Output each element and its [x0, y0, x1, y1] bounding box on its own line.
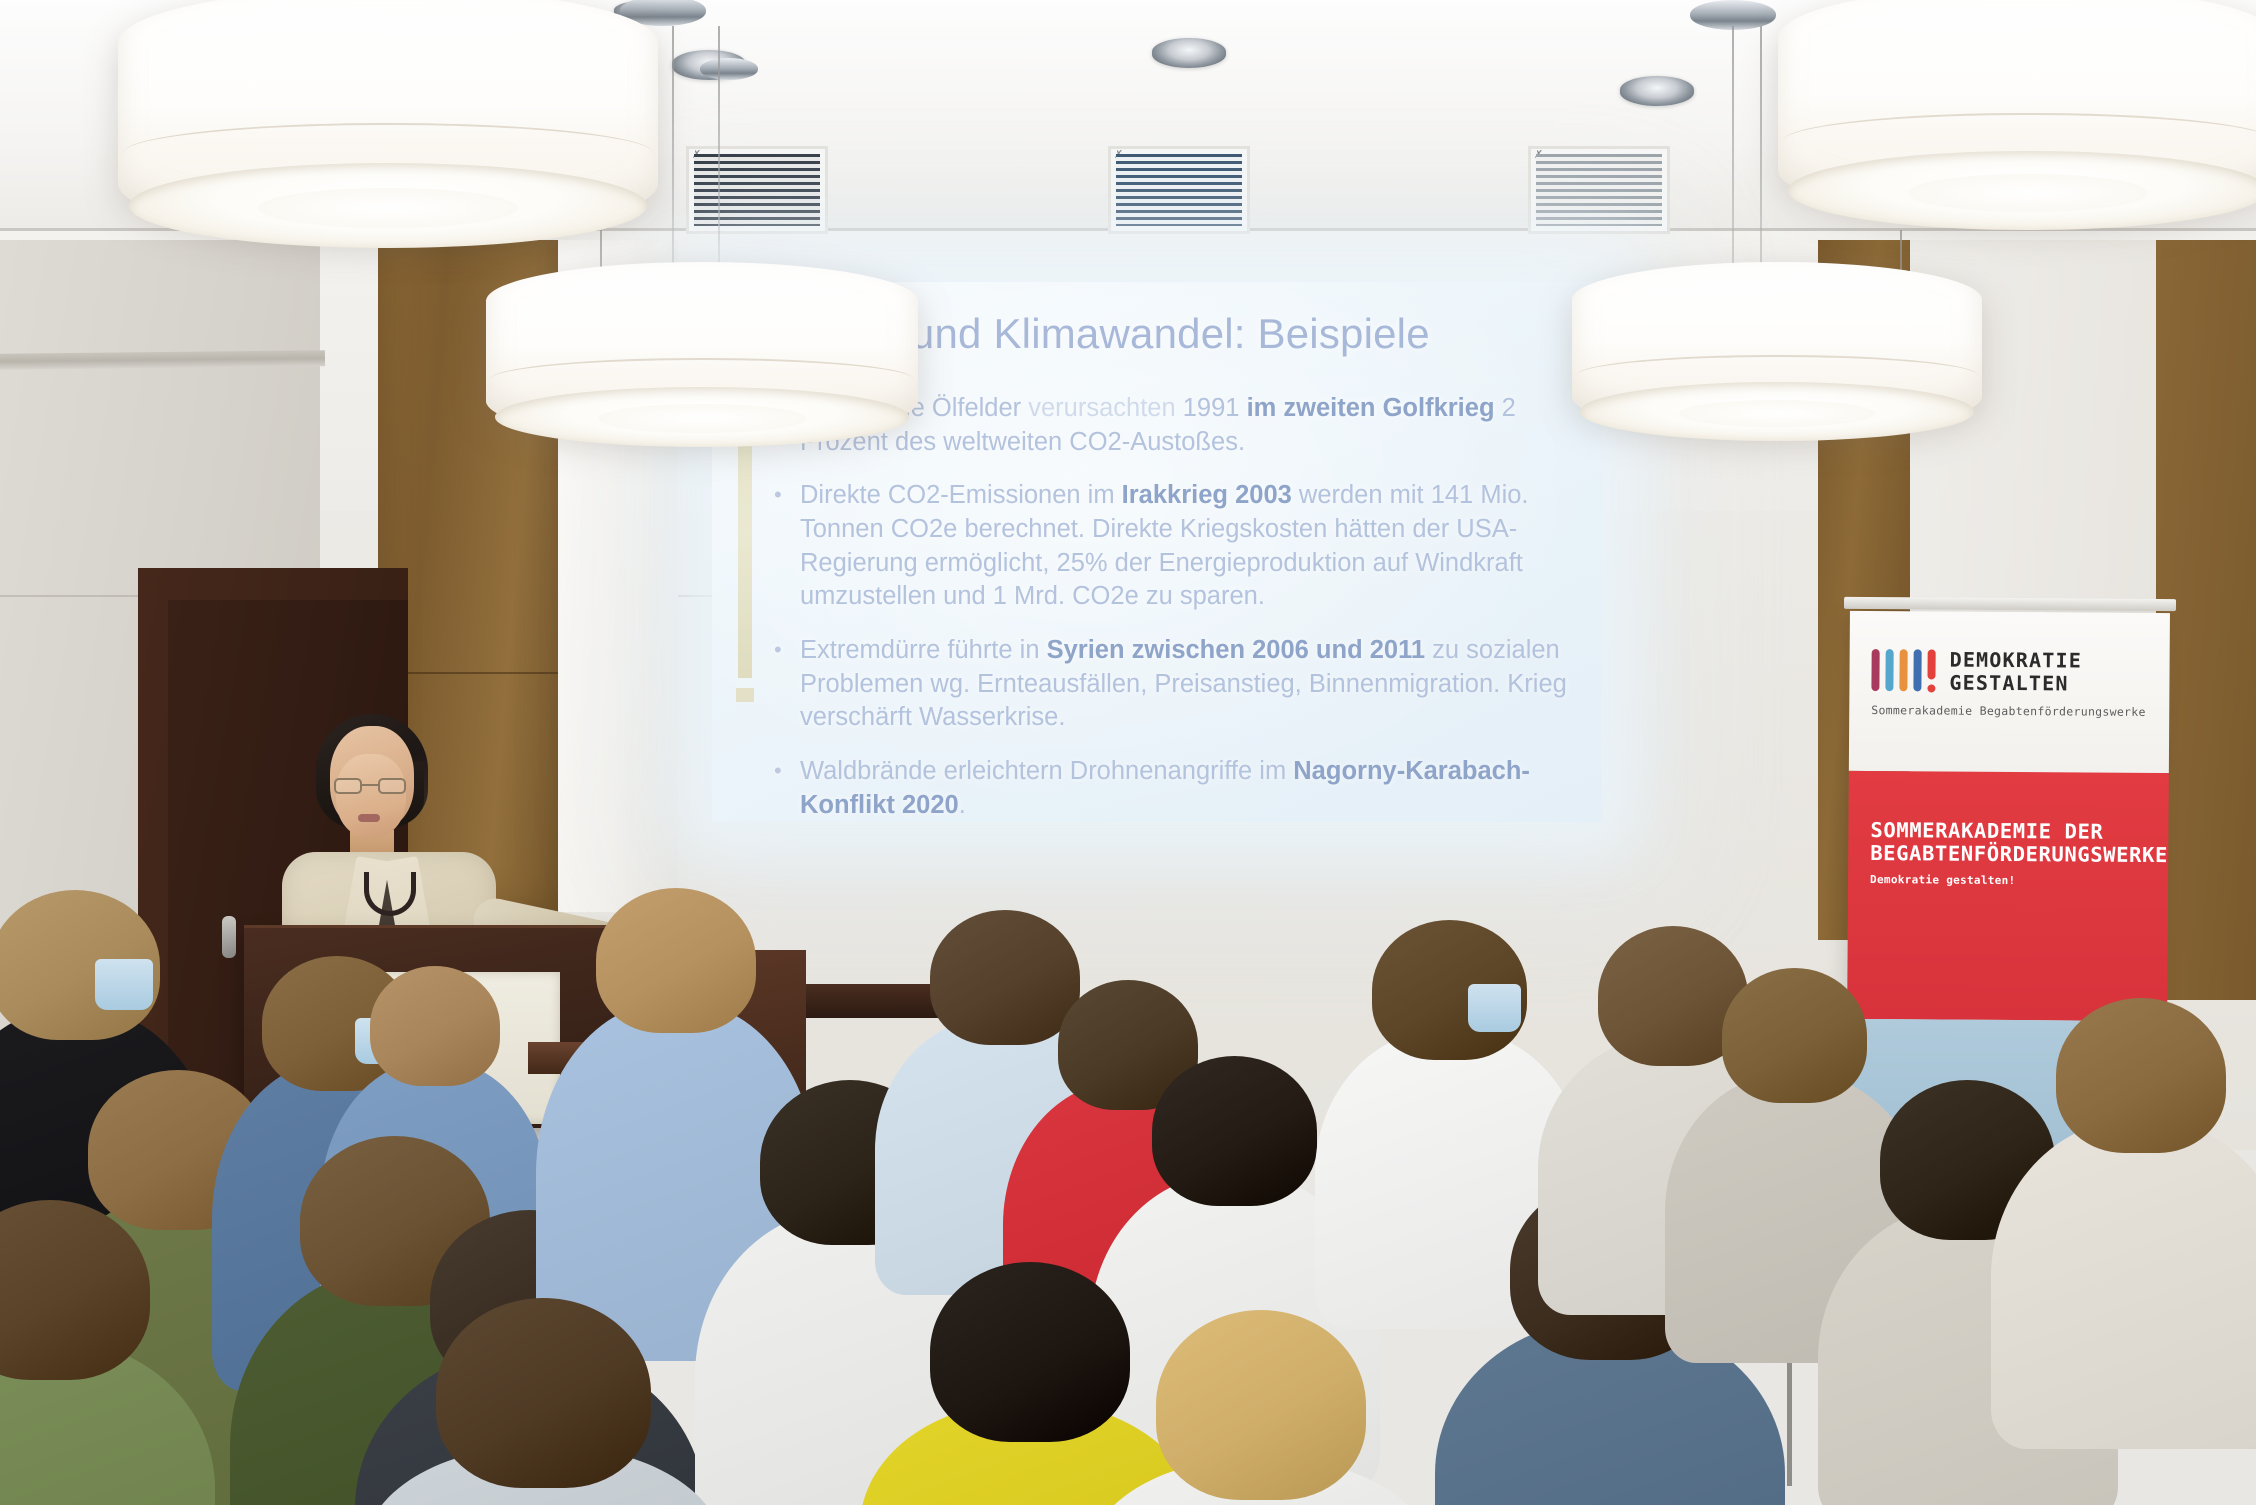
- bullet-marker-icon: •: [774, 755, 800, 822]
- lamp-rim: [1576, 355, 1978, 396]
- lamp-inner-disc: [1679, 400, 1876, 428]
- audience-member-head: [436, 1298, 651, 1488]
- lamp-inner-disc: [1908, 174, 2148, 212]
- slide-bullet-span: verursachten: [1028, 394, 1175, 422]
- lens-right: [378, 778, 406, 794]
- slide-bullet: •Direkte CO2-Emissionen im Irakkrieg 200…: [774, 479, 1594, 614]
- face-mask: [1468, 984, 1521, 1032]
- slide-bullet-text: Brennende Ölfelder verursachten 1991 im …: [800, 392, 1594, 459]
- banner-headline: SOMMERAKADEMIE DER BEGABTENFÖRDERUNGSWER…: [1870, 819, 2158, 868]
- slide-bullet-span: im zweiten Golfkrieg: [1247, 394, 1495, 422]
- vent-louvers: [1116, 154, 1242, 226]
- ceiling-spotlight-2: [1152, 38, 1226, 68]
- exclamation-dot: [1927, 684, 1935, 692]
- logo-line-2: GESTALTEN: [1949, 673, 2082, 694]
- pendant-lamp-mid-right: [1572, 262, 1982, 434]
- slide-bullet-text: Direkte CO2-Emissionen im Irakkrieg 2003…: [800, 479, 1594, 614]
- lamp-inner-disc: [258, 188, 517, 228]
- eyeglasses-icon: [334, 778, 410, 794]
- audience-member-head: [930, 1262, 1130, 1442]
- audience: [0, 880, 2256, 1505]
- ceiling-vent-center: ✗: [1108, 146, 1250, 234]
- logo-wordmark: DEMOKRATIE GESTALTEN: [1949, 650, 2082, 694]
- audience-member-head: [370, 966, 500, 1086]
- lens-left: [334, 778, 362, 794]
- slide-accent-dot-icon: [736, 688, 754, 702]
- lecture-hall-photo: ✗ ✗ ✗ Krieg und Klimawandel: Beispiele •…: [0, 0, 2256, 1505]
- slide-bullet-span: Extremdürre führte in: [800, 636, 1047, 664]
- banner-logo: DEMOKRATIE GESTALTEN: [1871, 649, 2082, 693]
- pendant-lamp-top-left: [118, 0, 658, 238]
- slide-bullet-list: •Brennende Ölfelder verursachten 1991 im…: [774, 392, 1594, 822]
- logo-line-1: DEMOKRATIE: [1950, 650, 2083, 671]
- slide-bullet-span: Waldbrände erleichtern Drohnenangriffe i…: [800, 757, 1293, 785]
- lamp-inner-disc: [598, 404, 805, 432]
- slide-bullet-text: Waldbrände erleichtern Drohnenangriffe i…: [800, 755, 1594, 822]
- slide-bullet-text: Extremdürre führte in Syrien zwischen 20…: [800, 634, 1594, 735]
- slide-bullet: •Waldbrände erleichtern Drohnenangriffe …: [774, 755, 1594, 822]
- slide-bullet-span: Syrien zwischen 2006 und 2011: [1047, 636, 1425, 664]
- ceiling-vent-left: ✗: [686, 146, 828, 234]
- lamp-cable-2: [718, 26, 720, 274]
- lamp-cable-1: [672, 26, 674, 276]
- logo-bar-1: [1871, 649, 1879, 691]
- slide-bullet: •Extremdürre führte in Syrien zwischen 2…: [774, 634, 1594, 735]
- audience-member-head: [1722, 968, 1867, 1103]
- logo-subtitle: Sommerakademie Begabtenförderungswerke: [1871, 703, 2146, 719]
- logo-bars-icon: [1871, 649, 1935, 691]
- face-mask: [95, 959, 153, 1010]
- wall-trim-rail: [0, 350, 325, 369]
- lamp-canopy-mid: [700, 58, 758, 80]
- lamp-rim: [1783, 113, 2256, 169]
- bullet-marker-icon: •: [774, 634, 800, 735]
- ceiling-spotlight-3: [1620, 76, 1694, 106]
- logo-exclamation-icon: [1927, 649, 1935, 691]
- lamp-rim: [490, 358, 913, 401]
- audience-member-head: [596, 888, 756, 1033]
- lamp-cable-3: [1732, 26, 1734, 274]
- audience-member-torso: [1991, 1119, 2256, 1449]
- lamp-cable-4: [1760, 26, 1762, 274]
- lamp-rim: [123, 123, 652, 183]
- vent-louvers: [694, 154, 820, 226]
- pendant-lamp-mid-left: [486, 262, 918, 440]
- speaker-mouth: [358, 814, 380, 822]
- slide-bullet-span: Irakkrieg 2003: [1122, 481, 1292, 509]
- vent-louvers: [1536, 154, 1662, 226]
- banner-top-rail: [1844, 597, 2176, 611]
- speaker-face: [336, 754, 406, 838]
- audience-member-head: [1156, 1310, 1366, 1500]
- ceiling-vent-right: ✗: [1528, 146, 1670, 234]
- audience-member-head: [1152, 1056, 1317, 1206]
- logo-bar-4: [1913, 649, 1921, 691]
- bullet-marker-icon: •: [774, 479, 800, 614]
- slide-bullet-span: .: [959, 791, 966, 819]
- glasses-bridge: [362, 784, 378, 786]
- audience-member-head: [2056, 998, 2226, 1153]
- exclamation-stem: [1927, 649, 1935, 679]
- pendant-lamp-top-right: [1778, 0, 2256, 221]
- slide-bullet-span: 1991: [1176, 394, 1247, 422]
- logo-bar-3: [1899, 649, 1907, 691]
- audience-member-head: [930, 910, 1080, 1045]
- slide-bullet-span: Direkte CO2-Emissionen im: [800, 481, 1122, 509]
- logo-bar-2: [1885, 649, 1893, 691]
